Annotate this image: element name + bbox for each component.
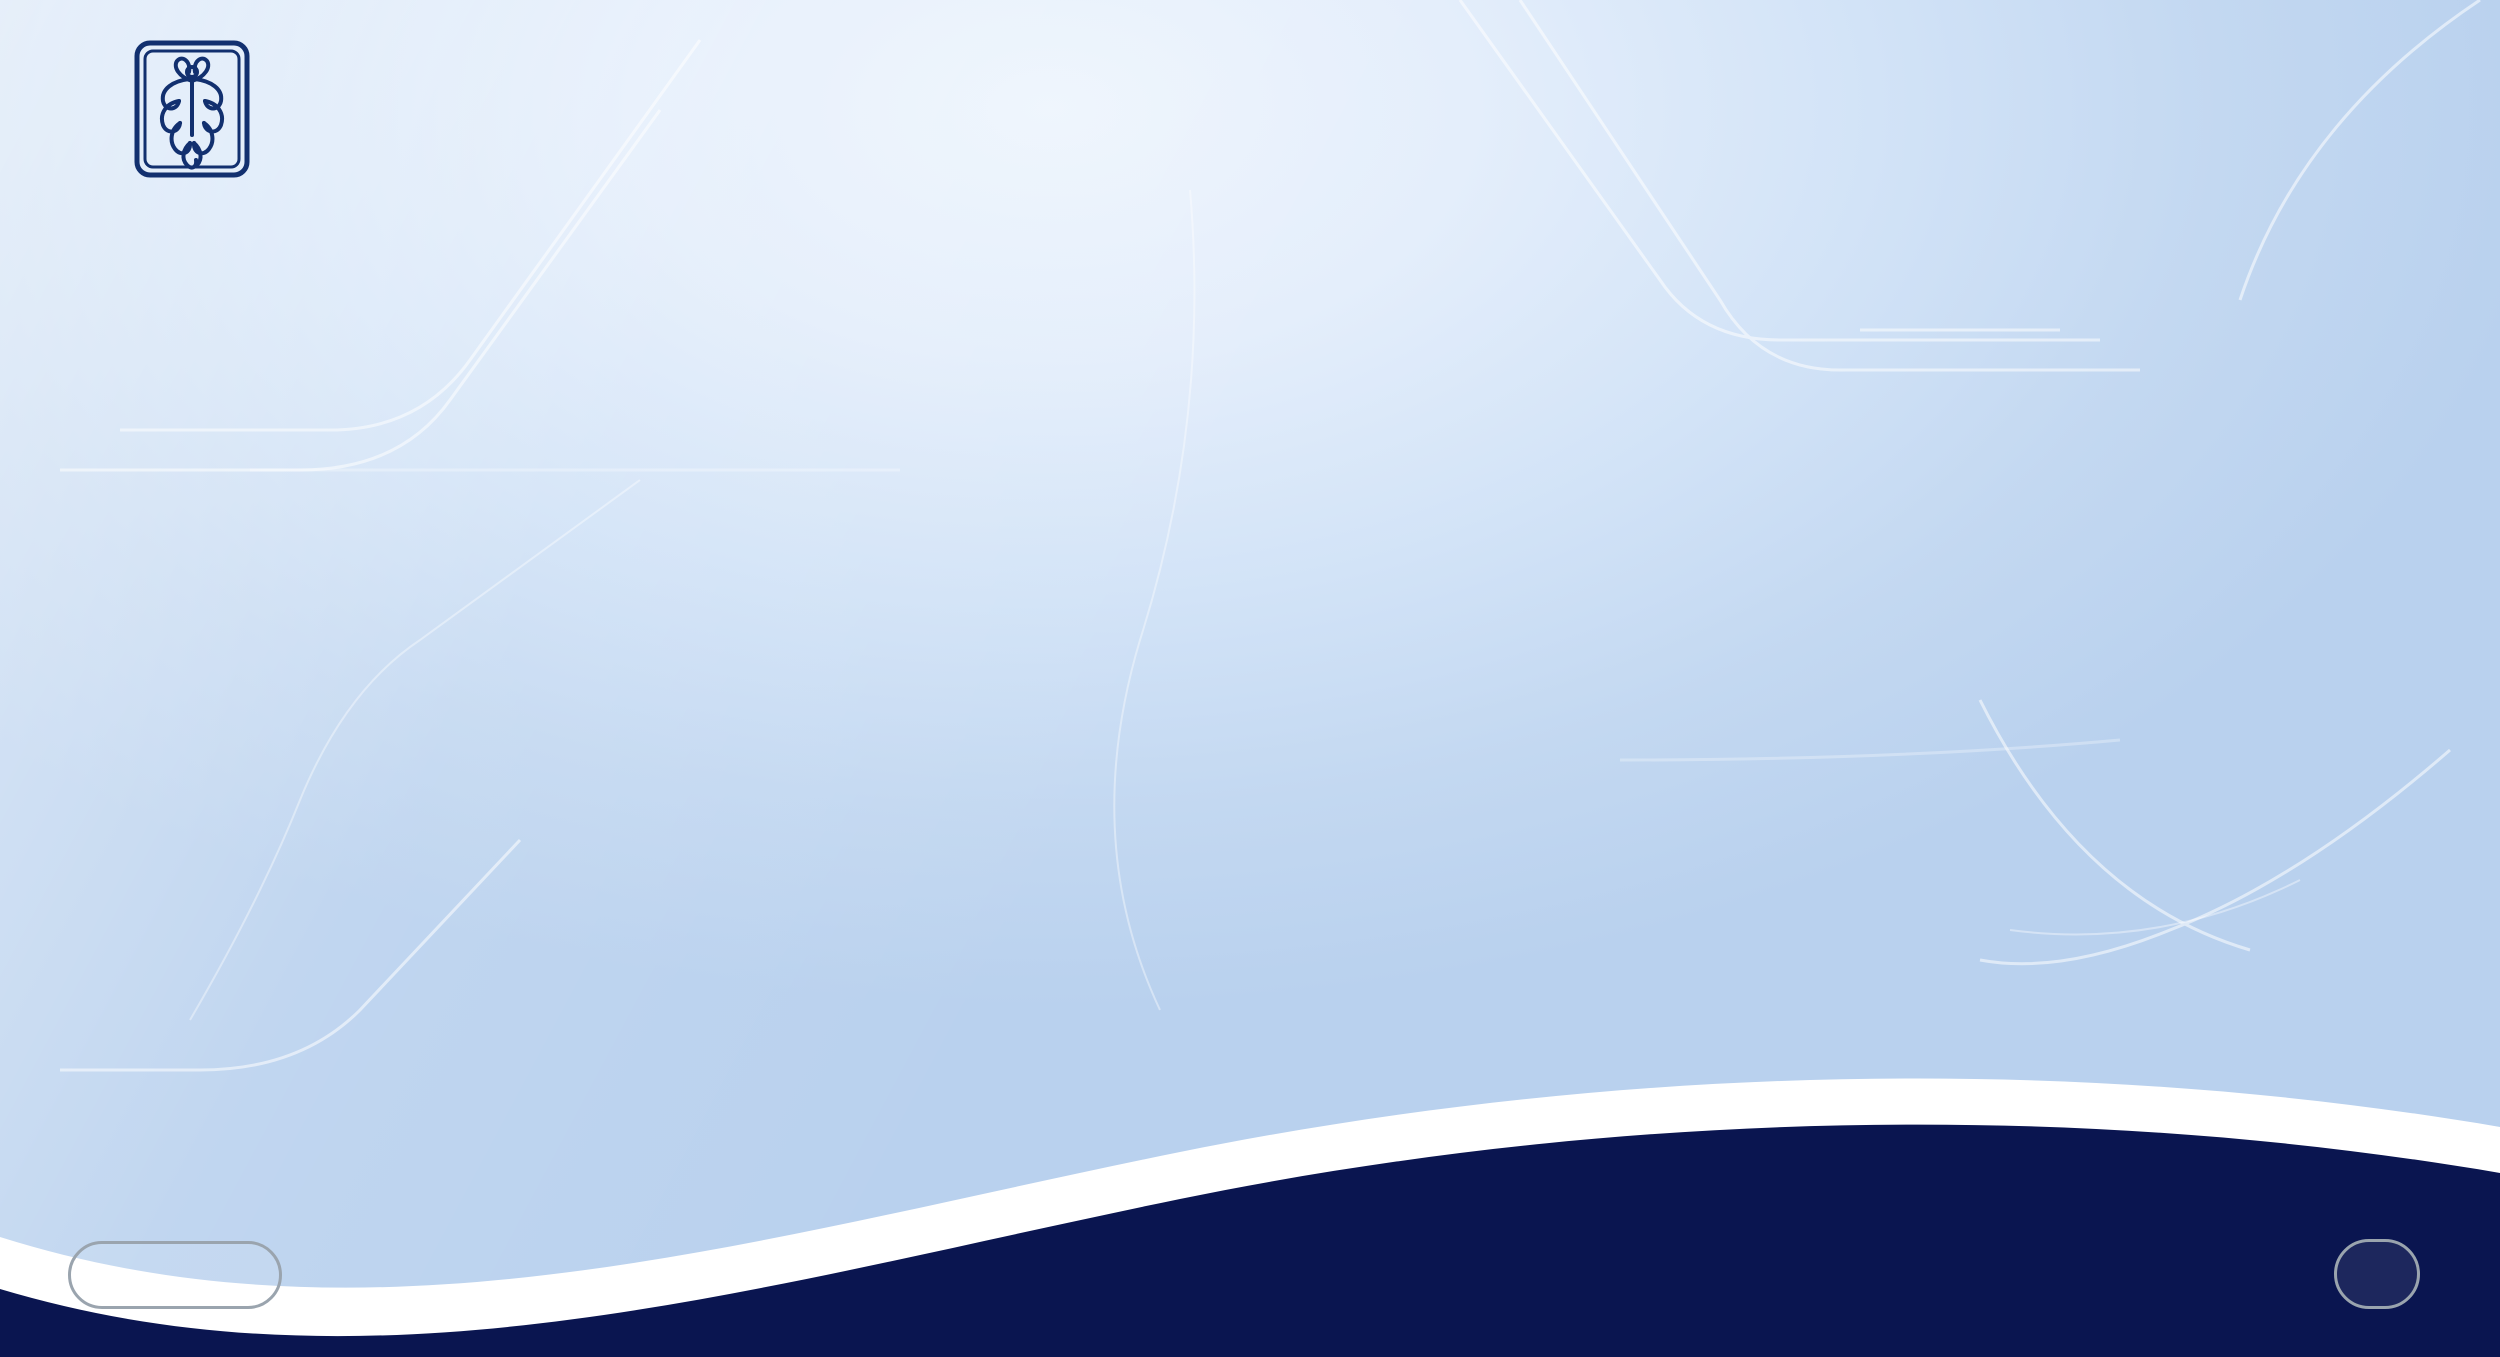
header-titles: [1010, 36, 2430, 44]
poster-root: [0, 0, 2500, 1357]
guilan-university-crest-icon: [133, 39, 251, 179]
university-logo: [105, 34, 785, 184]
bottom-wave-decoration: [0, 937, 2500, 1357]
website-button[interactable]: [68, 1241, 282, 1309]
background-sheen: [0, 0, 2500, 1357]
public-relations-badge: [2334, 1239, 2420, 1309]
background-curves-decoration: [0, 0, 2500, 1357]
